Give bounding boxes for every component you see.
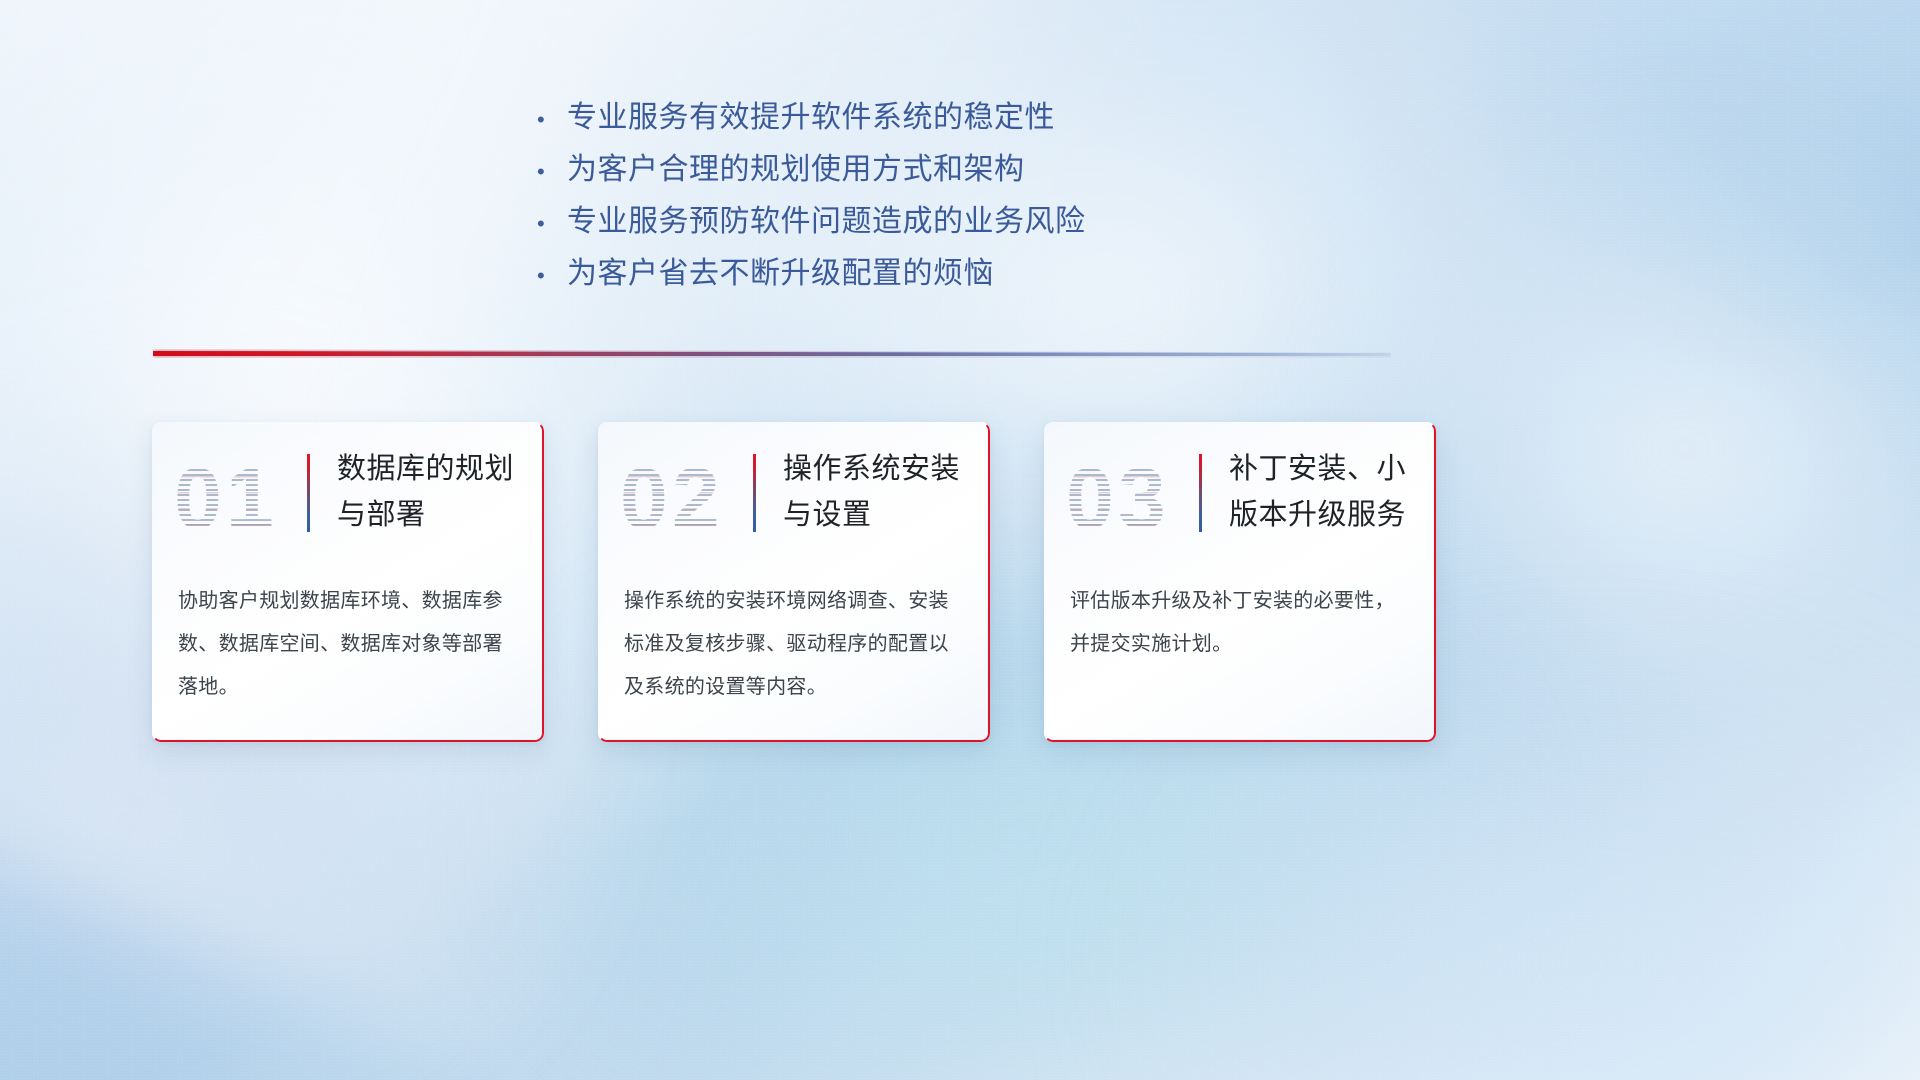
- bullet-dot-icon: •: [537, 265, 567, 287]
- list-item: • 为客户合理的规划使用方式和架构: [537, 144, 1337, 196]
- card-header: 03 03 补丁安装、小版本升级服务: [1044, 440, 1436, 558]
- bullet-dot-icon: •: [537, 213, 567, 235]
- card-header: 02 02 操作系统安装与设置: [598, 440, 990, 558]
- list-item: • 专业服务有效提升软件系统的稳定性: [537, 92, 1337, 144]
- bullet-dot-icon: •: [537, 109, 567, 131]
- card-title: 补丁安装、小版本升级服务: [1229, 446, 1419, 538]
- card-number-watermark-tint: 02: [620, 444, 724, 554]
- service-card-01[interactable]: 01 01 数据库的规划与部署 协助客户规划数据库环境、数据库参数、数据库空间、…: [152, 422, 544, 742]
- list-item: • 专业服务预防软件问题造成的业务风险: [537, 196, 1337, 248]
- card-description: 评估版本升级及补丁安装的必要性，并提交实施计划。: [1070, 580, 1410, 666]
- list-item: • 为客户省去不断升级配置的烦恼: [537, 248, 1337, 300]
- bullet-text: 为客户合理的规划使用方式和架构: [567, 144, 1025, 188]
- service-cards: 01 01 数据库的规划与部署 协助客户规划数据库环境、数据库参数、数据库空间、…: [0, 422, 1920, 742]
- card-surface: 01 01 数据库的规划与部署 协助客户规划数据库环境、数据库参数、数据库空间、…: [152, 422, 544, 742]
- service-card-02[interactable]: 02 02 操作系统安装与设置 操作系统的安装环境网络调查、安装标准及复核步骤、…: [598, 422, 990, 742]
- card-number-watermark-tint: 03: [1066, 444, 1170, 554]
- card-description: 协助客户规划数据库环境、数据库参数、数据库空间、数据库对象等部署落地。: [178, 580, 518, 709]
- card-title: 操作系统安装与设置: [783, 446, 973, 538]
- card-title: 数据库的规划与部署: [337, 446, 527, 538]
- bullet-text: 为客户省去不断升级配置的烦恼: [567, 248, 994, 292]
- card-header: 01 01 数据库的规划与部署: [152, 440, 544, 558]
- card-surface: 02 02 操作系统安装与设置 操作系统的安装环境网络调查、安装标准及复核步骤、…: [598, 422, 990, 742]
- card-divider-bar: [307, 454, 310, 532]
- card-surface: 03 03 补丁安装、小版本升级服务 评估版本升级及补丁安装的必要性，并提交实施…: [1044, 422, 1436, 742]
- bullet-text: 专业服务预防软件问题造成的业务风险: [567, 196, 1086, 240]
- card-divider-bar: [753, 454, 756, 532]
- section-divider: [153, 349, 1391, 361]
- card-divider-bar: [1199, 454, 1202, 532]
- service-card-03[interactable]: 03 03 补丁安装、小版本升级服务 评估版本升级及补丁安装的必要性，并提交实施…: [1044, 422, 1436, 742]
- bullet-text: 专业服务有效提升软件系统的稳定性: [567, 92, 1055, 136]
- bullet-dot-icon: •: [537, 161, 567, 183]
- card-number-watermark-tint: 01: [174, 444, 278, 554]
- benefits-bullet-list: • 专业服务有效提升软件系统的稳定性 • 为客户合理的规划使用方式和架构 • 专…: [537, 92, 1337, 300]
- card-description: 操作系统的安装环境网络调查、安装标准及复核步骤、驱动程序的配置以及系统的设置等内…: [624, 580, 964, 709]
